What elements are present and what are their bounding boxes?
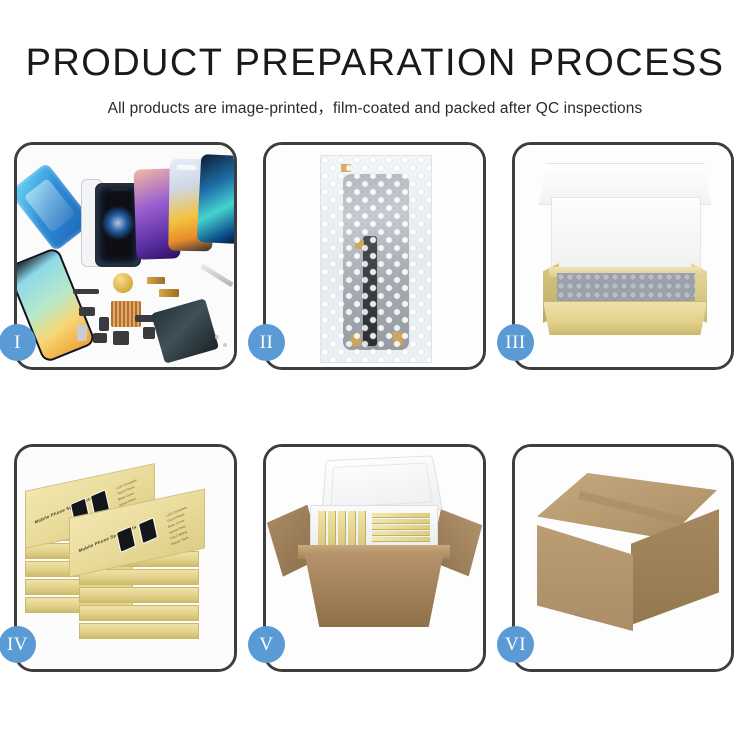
- part-connector: [73, 289, 99, 294]
- stacked-box: [79, 605, 199, 621]
- part-flex-a: [147, 277, 165, 284]
- part-vibrator: [143, 327, 155, 339]
- process-step-card-3[interactable]: III: [512, 142, 734, 370]
- packed-box: [358, 511, 366, 547]
- sealed-carton-illustration: [515, 447, 731, 669]
- carton-body: [302, 555, 446, 627]
- stacked-box: [79, 623, 199, 639]
- process-step-card-6[interactable]: VI: [512, 444, 734, 672]
- step-badge-5: V: [248, 626, 285, 663]
- step-image-6: [515, 447, 731, 669]
- part-shield-mesh: [111, 301, 141, 327]
- process-step-grid: I II: [14, 142, 736, 672]
- foam-lined-carton-illustration: [266, 447, 483, 669]
- part-screw-a: [215, 335, 219, 339]
- packed-box-flat: [372, 519, 430, 524]
- step-image-2: [266, 145, 483, 367]
- packed-box-flat: [372, 537, 430, 542]
- step-image-3: [515, 145, 731, 367]
- product-preparation-page: PRODUCT PREPARATION PROCESS All products…: [0, 0, 750, 750]
- process-step-card-5[interactable]: V: [263, 444, 486, 672]
- part-logic-board: [151, 298, 219, 363]
- bubble-wrap-layer: [557, 273, 695, 305]
- process-step-card-2[interactable]: II: [263, 142, 486, 370]
- box-front-panel: [543, 301, 707, 335]
- bubble-wrapped-screen-illustration: [266, 145, 483, 367]
- stacked-boxes-illustration: Mobile Phone Spare Parts LCD Complete To…: [17, 447, 234, 669]
- step-badge-2: II: [248, 324, 285, 361]
- part-camera: [77, 325, 87, 341]
- part-battery-connector: [113, 331, 129, 345]
- packed-box-flat: [372, 525, 430, 530]
- packed-box-flat: [372, 531, 430, 536]
- packed-boxes-group: [318, 511, 430, 547]
- carton-tape-upper: [575, 614, 593, 641]
- packed-box: [328, 511, 336, 547]
- process-step-card-1[interactable]: I: [14, 142, 237, 370]
- part-tweezers: [200, 264, 233, 287]
- step-image-1: [17, 145, 234, 367]
- carton-front-face: [537, 525, 633, 631]
- packed-box: [348, 511, 356, 547]
- step-image-4: Mobile Phone Spare Parts LCD Complete To…: [17, 447, 234, 669]
- part-flex-b: [159, 289, 179, 297]
- packed-box-flat: [372, 513, 430, 518]
- foam-sheet: [551, 197, 701, 275]
- part-screw-b: [223, 343, 227, 347]
- page-title: PRODUCT PREPARATION PROCESS: [0, 44, 750, 82]
- phone-teal-graphic: [197, 154, 234, 244]
- packed-box: [318, 511, 326, 547]
- part-chip-b: [99, 317, 109, 331]
- part-speaker-coil: [113, 273, 133, 293]
- step-badge-3: III: [497, 324, 534, 361]
- box-print-phone-image: [138, 517, 158, 544]
- spare-parts-cluster: [73, 271, 234, 367]
- bubble-wrap-bag: [320, 155, 432, 363]
- part-chip-a: [79, 307, 95, 316]
- step-badge-4: IV: [0, 626, 36, 663]
- stacked-box: [79, 587, 199, 603]
- open-kraft-box-illustration: [515, 145, 731, 367]
- page-header: PRODUCT PREPARATION PROCESS All products…: [0, 0, 750, 118]
- bubble-texture: [321, 156, 431, 362]
- step-badge-1: I: [0, 324, 36, 361]
- page-subtitle: All products are image-printed，film-coat…: [0, 96, 750, 118]
- phones-and-parts-illustration: [17, 145, 234, 367]
- packed-box: [338, 511, 346, 547]
- part-chip-c: [93, 333, 107, 343]
- step-image-5: [266, 447, 483, 669]
- step-badge-6: VI: [497, 626, 534, 663]
- process-step-card-4[interactable]: Mobile Phone Spare Parts LCD Complete To…: [14, 444, 237, 672]
